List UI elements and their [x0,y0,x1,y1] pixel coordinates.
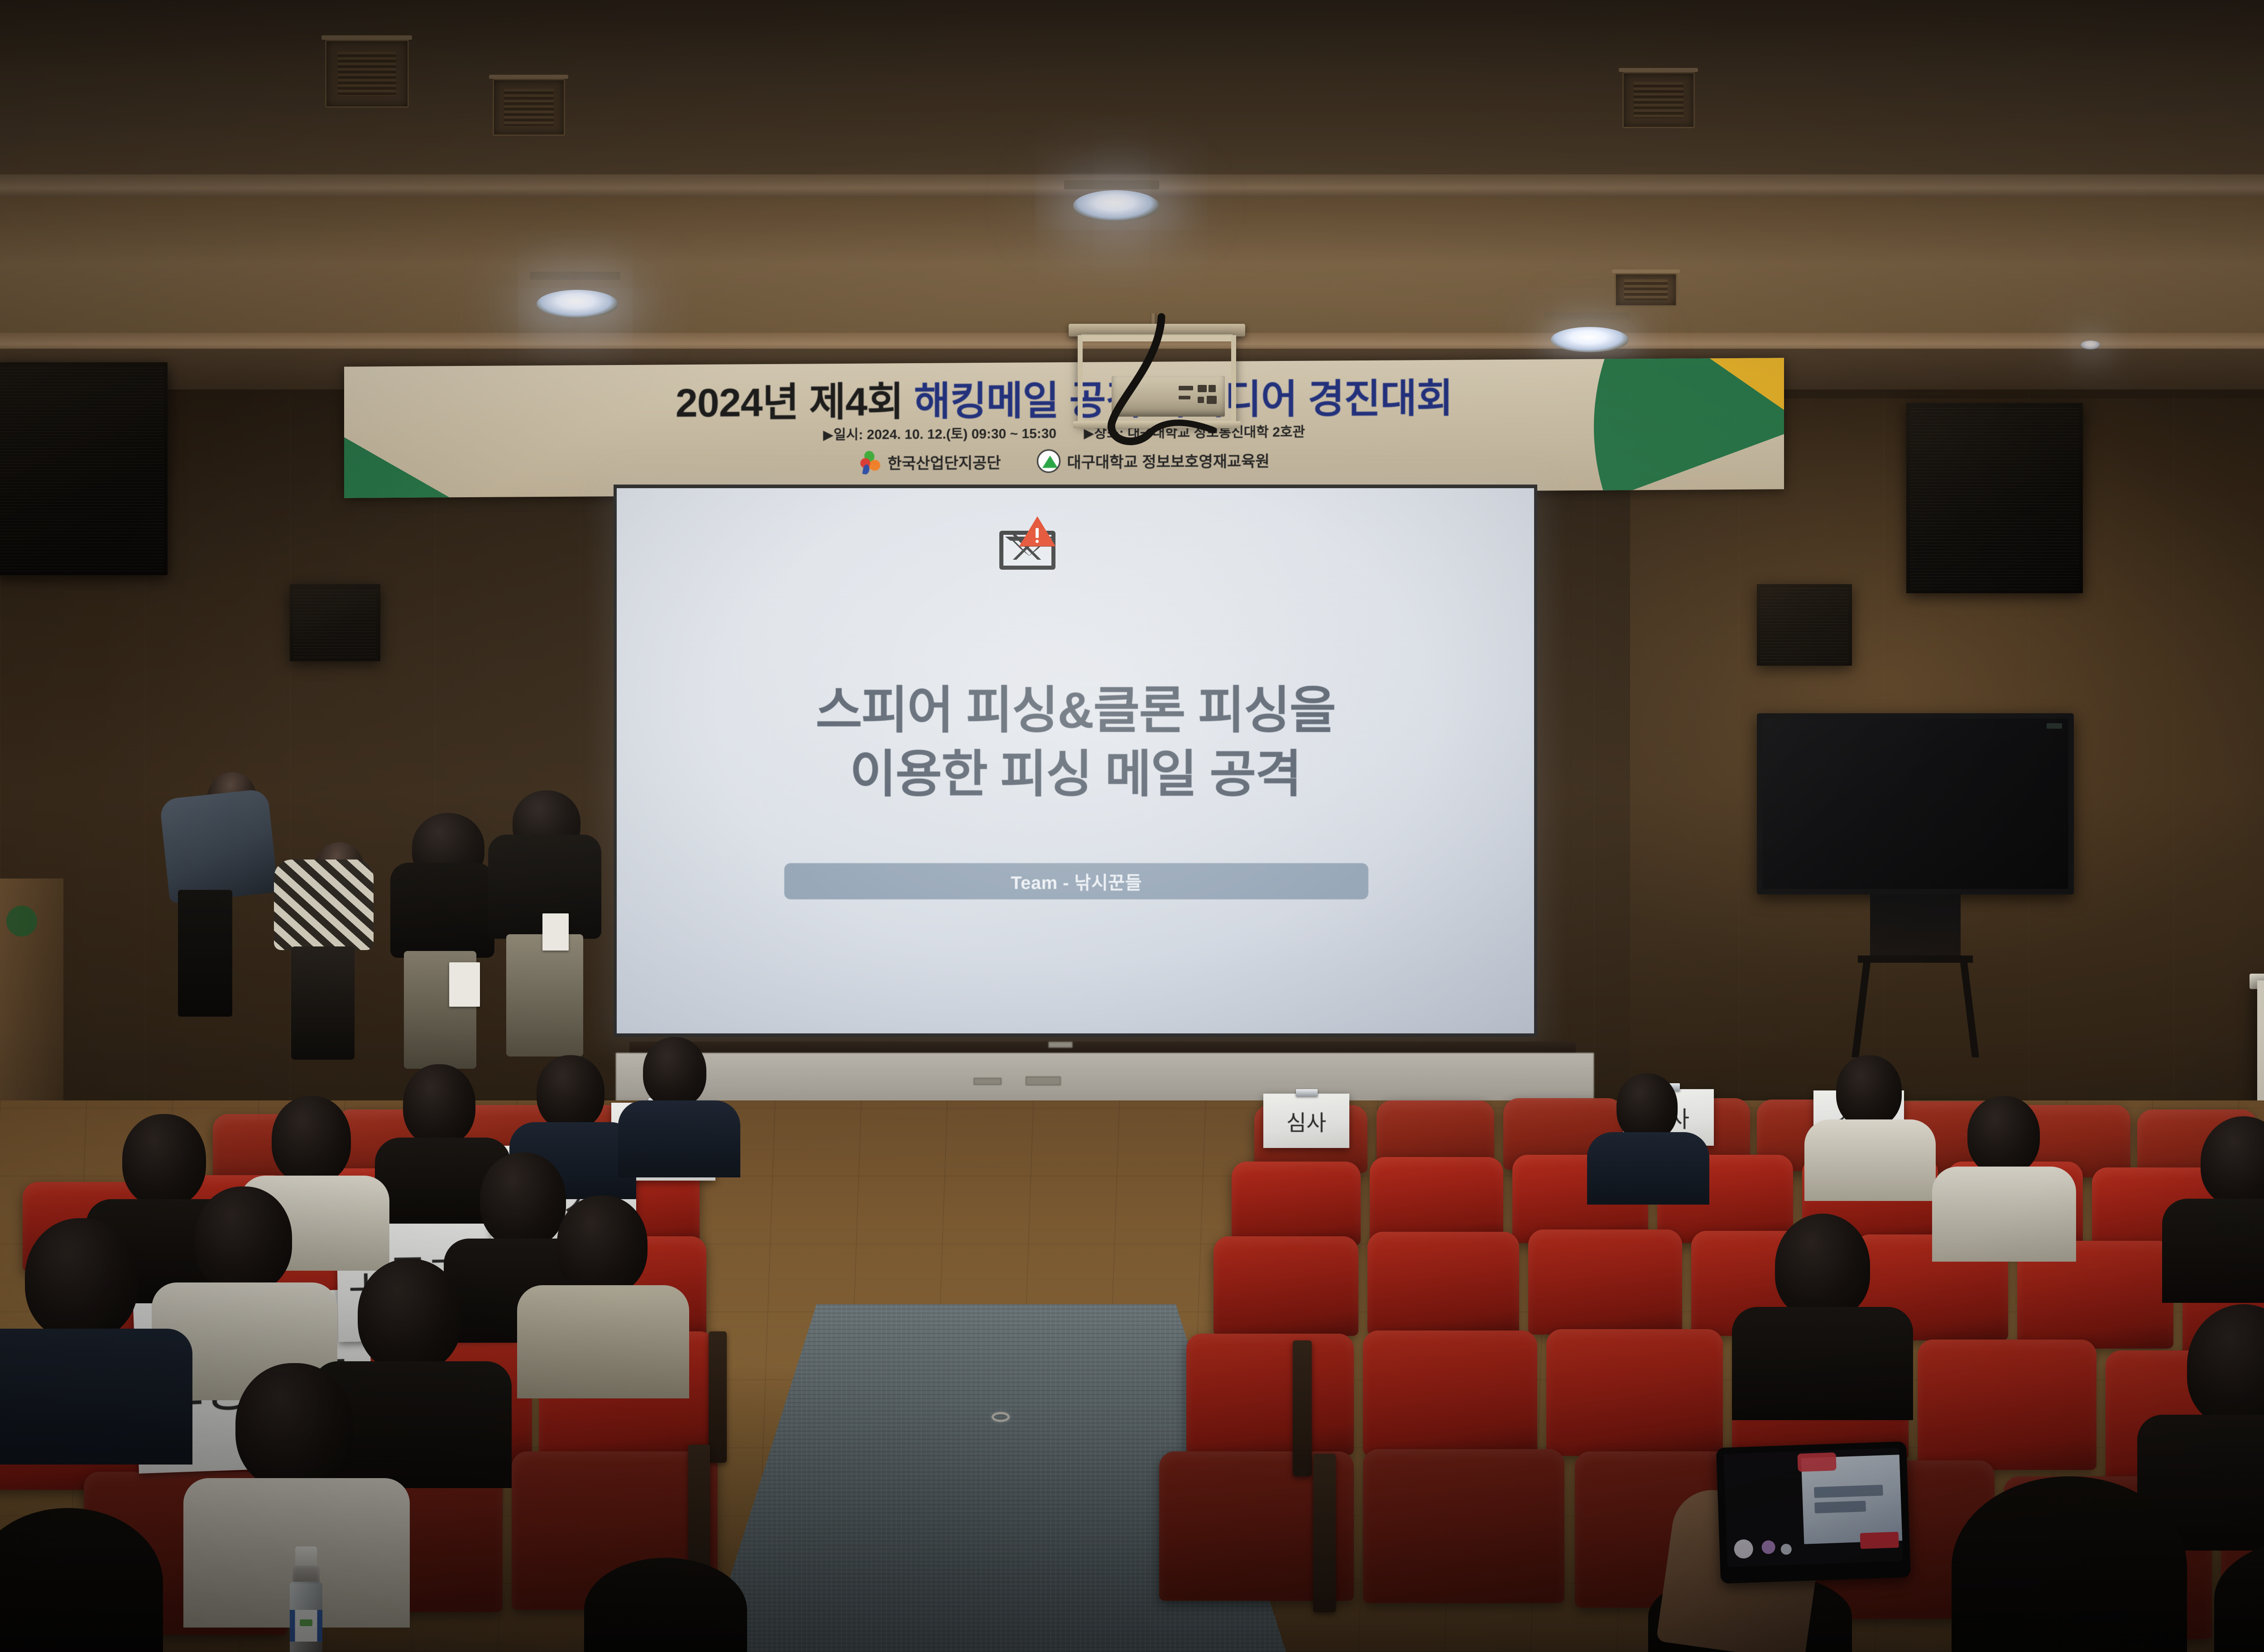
wall-speaker-right-small [1757,584,1852,666]
slide-title: 스피어 피싱&클론 피싱을 이용한 피싱 메일 공격 [617,678,1534,806]
monitor-screen [1762,719,2068,889]
seat[interactable] [1186,1334,1354,1455]
bottle-neck [293,1566,320,1584]
monitor-power-led-icon [2047,723,2062,729]
ceiling-vent-icon [1615,273,1677,307]
wall-speaker-left [0,362,168,575]
light-housing [530,272,620,280]
smartphone-camera[interactable] [1716,1441,1911,1584]
stage-lectern-emblem-icon [6,906,37,936]
foreground-person-silhouette [1952,1476,2187,1652]
ceiling-vent-icon [325,40,409,108]
monitor-stand-column [1870,894,1961,958]
ceiling-downlight [537,290,618,318]
vent-lip [489,75,568,79]
bottle-cap [295,1546,317,1567]
projector-body [1112,376,1225,417]
phone-controls[interactable] [1733,1533,1798,1560]
seat[interactable] [1528,1229,1682,1335]
banner-sponsors: 한국산업단지공단 대구대학교 정보보호영재교육원 [344,445,1784,477]
seat-sign-label: 심사 [1286,1105,1326,1137]
light-housing [1064,180,1159,189]
seat-armrest [1293,1340,1312,1476]
seat[interactable] [1370,1157,1503,1243]
wall-speaker-right [1906,403,2083,593]
seat-armrest [709,1331,727,1463]
seat[interactable] [1232,1162,1361,1245]
bottle-label [290,1610,322,1642]
seat[interactable] [1363,1449,1564,1603]
slide-team-badge: Team - 낚시꾼들 [784,863,1368,899]
seat-sign-judges: 심사 [1263,1094,1349,1148]
banner-title-prefix: 2024년 제4회 [676,379,914,425]
vent-lip [321,35,412,40]
wall-monitor[interactable] [1757,713,2074,894]
phone-red-ui-bar [1860,1532,1899,1549]
ceiling-vent-icon [1622,72,1695,128]
wall-speaker-left-small [290,584,380,661]
daegu-university-logo-icon [1037,449,1060,473]
warning-exclamation [1036,528,1039,538]
monitor-stand-legs [1850,956,1981,1060]
banner-date: ▶일시: 2024. 10. 12.(토) 09:30 ~ 15:30 [823,426,1056,442]
ceiling-vent-icon [493,79,565,136]
seat[interactable] [1918,1340,2096,1470]
stage-floor-socket [974,1078,1002,1085]
seat[interactable] [1367,1232,1519,1335]
vent-lip [1619,68,1698,72]
floor-ring-handle [992,1412,1010,1422]
ceiling-downlight-far [2081,341,2101,350]
projection-screen: 스피어 피싱&클론 피싱을 이용한 피싱 메일 공격 Team - 낚시꾼들 [617,488,1534,1033]
stage-floor-socket [1026,1076,1061,1085]
seat[interactable] [1546,1329,1723,1456]
sign-clip [1296,1089,1318,1096]
event-banner: 2024년 제4회 해킹메일 공격 아이디어 경진대회 ▶일시: 2024. 1… [344,358,1784,498]
sponsor-kicox-label: 한국산업단지공단 [887,450,1001,473]
ceiling-downlight [1073,190,1159,221]
stage-floor-socket [1048,1042,1073,1048]
warning-exclamation-dot [1036,540,1039,543]
seat-armrest [1313,1454,1336,1612]
phone-screen [1723,1448,1903,1567]
warning-envelope-icon [999,516,1063,571]
water-bottle [285,1546,326,1652]
projector-base [1073,421,1241,428]
sponsor-kicox: 한국산업단지공단 [859,450,1001,474]
seat[interactable] [1363,1330,1537,1455]
slide-team-label: Team - 낚시꾼들 [1011,868,1142,894]
auditorium-scene: 2024년 제4회 해킹메일 공격 아이디어 경진대회 ▶일시: 2024. 1… [0,0,2264,1652]
student-badge [542,913,569,951]
sponsor-daegu-label: 대구대학교 정보보호영재교육원 [1067,449,1269,472]
student-badge [449,962,480,1007]
seat[interactable] [1214,1236,1358,1336]
vent-lip [1612,269,1680,273]
slide-title-line1: 스피어 피싱&클론 피싱을 [617,678,1534,742]
slide-title-line2: 이용한 피싱 메일 공격 [617,742,1534,806]
ceiling-downlight [1551,327,1629,352]
kicox-flower-logo-icon [859,451,881,473]
phone-record-indicator-icon [1797,1452,1837,1472]
sponsor-daegu-university: 대구대학교 정보보호영재교육원 [1037,448,1269,473]
light-housing [1544,312,1630,320]
